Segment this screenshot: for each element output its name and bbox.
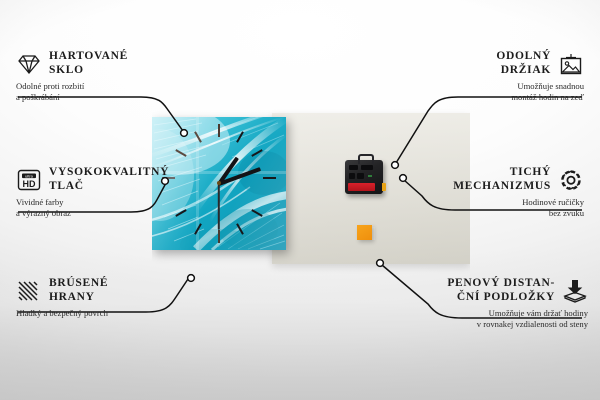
feature-description: Umožňuje snadnou montáž hodin na zeď xyxy=(399,81,584,103)
feature-tempered-glass: HARTOVANÉ SKLO Odolné proti rozbití a po… xyxy=(16,50,191,103)
feature-foam-spacers: PENOVÝ DISTAN- ČNÍ PODLOŽKY Umožňuje vám… xyxy=(363,277,588,330)
feature-description: Umožňuje vám držať hodiny v rovnakej vzd… xyxy=(363,308,588,330)
feature-title: TICHÝ MECHANIZMUS xyxy=(453,166,551,193)
endpoint-foam xyxy=(377,260,384,267)
feature-silent-mechanism: TICHÝ MECHANIZMUS Hodinové ručičky bez z… xyxy=(394,166,584,219)
feature-title: ODOLNÝ DRŽIAK xyxy=(496,50,551,77)
feature-description: Odolné proti rozbití a poškrábání xyxy=(16,81,191,103)
gear-icon xyxy=(558,168,584,192)
feature-description: Vividné farby a výrazný obraz xyxy=(16,197,196,219)
picture-frame-icon xyxy=(558,52,584,76)
feature-title: BRÚSENÉ HRANY xyxy=(49,277,108,304)
spacer-pad-icon xyxy=(562,279,588,303)
feature-description: Hladký a bezpečný povrch xyxy=(16,308,201,319)
feature-durable-hanger: ODOLNÝ DRŽIAK Umožňuje snadnou montáž ho… xyxy=(399,50,584,103)
ultra-hd-icon: ultra HD xyxy=(16,168,42,192)
feature-high-quality-print: ultra HD VYSOKOKVALITNÝ TLAČ Vividné far… xyxy=(16,166,196,219)
feature-ground-edges: BRÚSENÉ HRANY Hladký a bezpečný povrch xyxy=(16,277,201,319)
svg-text:ultra: ultra xyxy=(25,173,34,178)
feature-title: VYSOKOKVALITNÝ TLAČ xyxy=(49,166,169,193)
infographic-canvas: HARTOVANÉ SKLO Odolné proti rozbití a po… xyxy=(0,0,600,400)
connector-hanger xyxy=(396,97,582,163)
feature-description: Hodinové ručičky bez zvuku xyxy=(394,197,584,219)
endpoint-tempered-glass xyxy=(181,130,188,137)
diamond-icon xyxy=(16,52,42,76)
svg-text:HD: HD xyxy=(23,179,36,189)
beveled-edge-icon xyxy=(16,279,42,303)
feature-title: HARTOVANÉ SKLO xyxy=(49,50,128,77)
feature-title: PENOVÝ DISTAN- ČNÍ PODLOŽKY xyxy=(447,277,555,304)
